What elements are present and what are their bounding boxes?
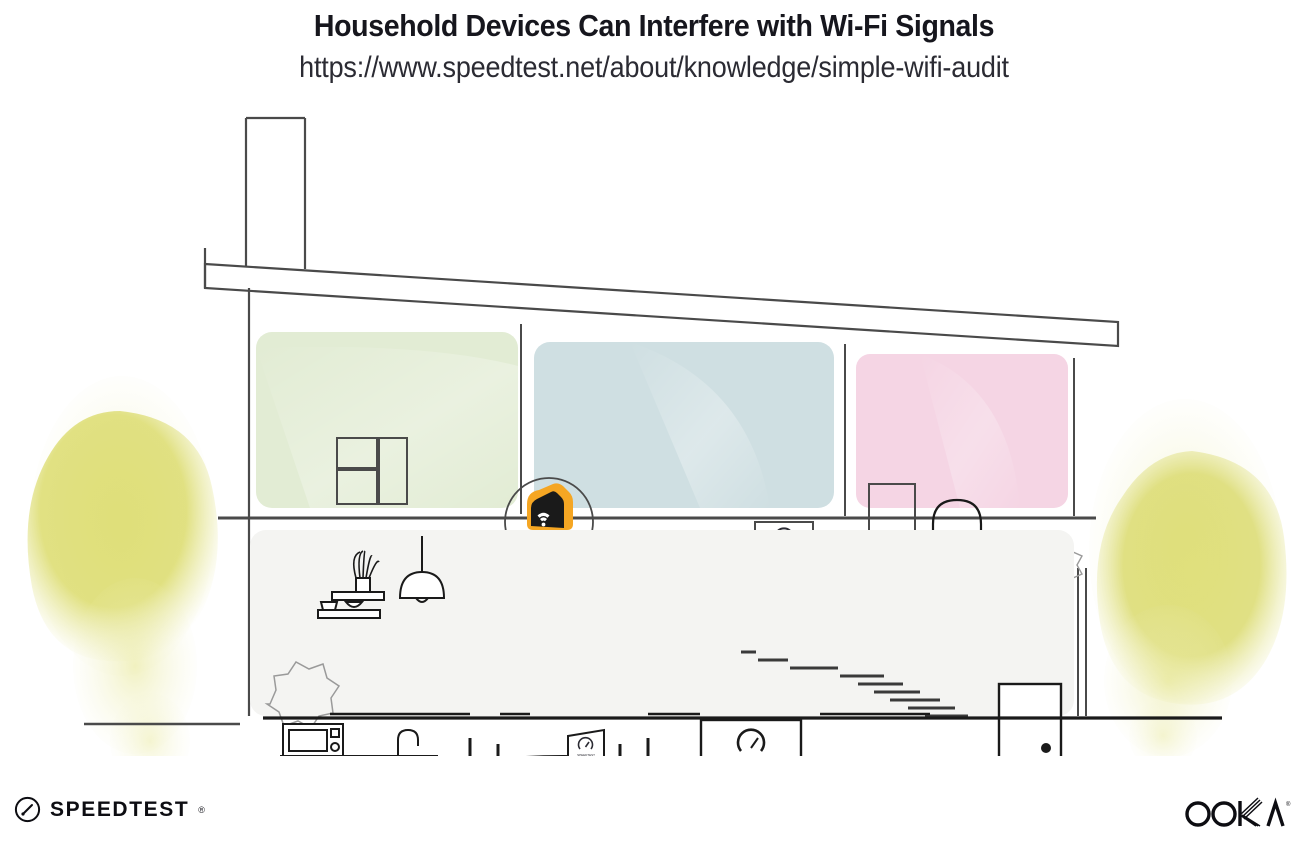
page-title: Household Devices Can Interfere with Wi-… xyxy=(52,8,1255,44)
infographic-canvas: Household Devices Can Interfere with Wi-… xyxy=(0,0,1308,861)
house-cutaway-illustration: SPEEDTEST xyxy=(0,106,1308,756)
footer: SPEEDTEST ® ® xyxy=(0,782,1308,854)
ookla-k-stripes xyxy=(1240,798,1262,826)
chair-left xyxy=(468,738,500,756)
header: Household Devices Can Interfere with Wi-… xyxy=(0,0,1308,86)
television: SPEEDTEST xyxy=(701,720,801,756)
wifi-router xyxy=(527,483,573,530)
chimney xyxy=(246,118,305,269)
roof xyxy=(205,248,1118,346)
speedtest-registered-mark: ® xyxy=(198,805,205,815)
door-knob xyxy=(1041,743,1051,753)
room-living-kitchen: SPEEDTEST SPEEDTEST xyxy=(250,530,1074,756)
speedtest-logo[interactable]: SPEEDTEST ® xyxy=(14,796,205,823)
source-url: https://www.speedtest.net/about/knowledg… xyxy=(65,50,1242,86)
screen-label: SPEEDTEST xyxy=(577,753,595,756)
speedometer-icon xyxy=(14,796,41,823)
ookla-logo[interactable]: ® xyxy=(1182,794,1292,833)
ookla-registered-mark: ® xyxy=(1286,801,1291,808)
chair-right xyxy=(618,738,650,756)
ookla-wordmark-icon: ® xyxy=(1182,794,1292,828)
sink-faucet xyxy=(398,730,418,756)
laptop: SPEEDTEST xyxy=(562,730,610,756)
speedtest-wordmark: SPEEDTEST xyxy=(50,798,189,822)
foliage-left xyxy=(28,376,218,756)
front-door xyxy=(999,684,1061,756)
foliage-right xyxy=(1089,399,1287,756)
